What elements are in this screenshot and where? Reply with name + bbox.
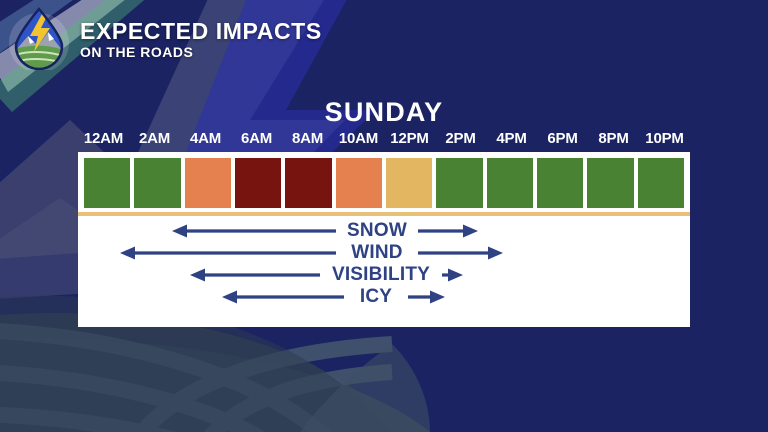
time-label: 8AM	[282, 130, 333, 150]
impact-level-row	[84, 158, 684, 208]
hazard-left-arrow	[172, 220, 336, 242]
impact-cell	[537, 158, 583, 208]
brand-subtitle: ON THE ROADS	[80, 45, 322, 60]
hazard-label: VISIBILITY	[326, 264, 436, 286]
time-label: 6PM	[537, 130, 588, 150]
impact-cell	[134, 158, 180, 208]
impact-cell	[285, 158, 331, 208]
hazard-right-arrow	[418, 242, 503, 264]
storm-drop-logo-icon	[8, 6, 70, 70]
hazard-left-arrow	[190, 264, 320, 286]
impact-cell	[638, 158, 684, 208]
impacts-panel: SNOWWINDVISIBILITYICY	[78, 152, 690, 327]
hazard-row: VISIBILITY	[78, 264, 690, 286]
hazard-left-arrow	[222, 286, 344, 308]
hazard-label: ICY	[350, 286, 402, 308]
hazard-right-segment	[408, 286, 445, 308]
hazard-left-segment	[222, 286, 344, 308]
time-label: 10AM	[333, 130, 384, 150]
hazard-left-segment	[190, 264, 320, 286]
hazard-left-arrow	[120, 242, 336, 264]
time-label: 6AM	[231, 130, 282, 150]
time-label: 8PM	[588, 130, 639, 150]
hazard-row: WIND	[78, 242, 690, 264]
hazard-left-segment	[172, 220, 336, 242]
impact-cell	[336, 158, 382, 208]
impact-cell	[386, 158, 432, 208]
hazard-left-segment	[120, 242, 336, 264]
brand-title: EXPECTED IMPACTS	[80, 20, 322, 43]
impact-cell	[84, 158, 130, 208]
impact-cell	[436, 158, 482, 208]
hazard-timeline-list: SNOWWINDVISIBILITYICY	[78, 220, 690, 320]
hazard-right-segment	[442, 264, 463, 286]
time-label: 4PM	[486, 130, 537, 150]
time-label: 2AM	[129, 130, 180, 150]
hazard-row: SNOW	[78, 220, 690, 242]
time-label: 12AM	[78, 130, 129, 150]
impact-cell	[235, 158, 281, 208]
hazard-right-arrow	[418, 220, 478, 242]
hazard-right-segment	[418, 242, 503, 264]
impact-cell	[185, 158, 231, 208]
time-axis: 12AM2AM4AM6AM8AM10AM12PM2PM4PM6PM8PM10PM	[78, 130, 690, 150]
time-label: 10PM	[639, 130, 690, 150]
brand-header: EXPECTED IMPACTS ON THE ROADS	[8, 6, 322, 70]
time-label: 12PM	[384, 130, 435, 150]
hazard-right-arrow	[408, 286, 445, 308]
time-label: 4AM	[180, 130, 231, 150]
hazard-label: SNOW	[342, 220, 412, 242]
impact-cell	[487, 158, 533, 208]
panel-divider	[78, 212, 690, 216]
time-label: 2PM	[435, 130, 486, 150]
brand-text-block: EXPECTED IMPACTS ON THE ROADS	[80, 16, 322, 61]
impact-cell	[587, 158, 633, 208]
day-title: SUNDAY	[0, 97, 768, 128]
hazard-label: WIND	[342, 242, 412, 264]
hazard-row: ICY	[78, 286, 690, 308]
hazard-right-arrow	[442, 264, 463, 286]
hazard-right-segment	[418, 220, 478, 242]
